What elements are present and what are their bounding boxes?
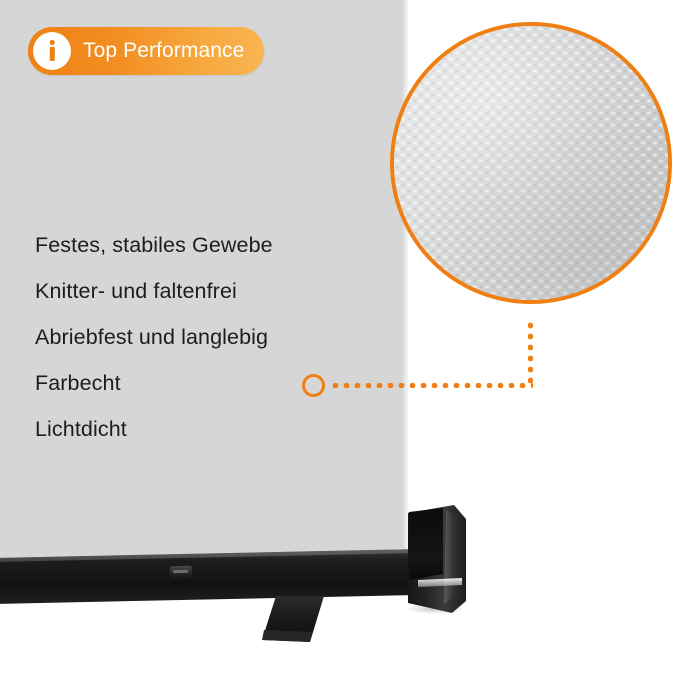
cassette-side-highlight — [444, 508, 458, 604]
feature-item: Knitter- und faltenfrei — [35, 268, 375, 314]
feature-list: Festes, stabiles Gewebe Knitter- und fal… — [35, 222, 375, 452]
info-icon-stem — [50, 47, 55, 61]
callout-line-horizontal — [330, 383, 533, 388]
base-clip — [170, 566, 192, 584]
infographic-canvas: Top Performance Festes, stabiles Gewebe … — [0, 0, 700, 700]
feature-item: Festes, stabiles Gewebe — [35, 222, 375, 268]
info-icon — [33, 32, 71, 70]
top-performance-badge: Top Performance — [28, 27, 264, 75]
fabric-sheen-overlay — [394, 26, 668, 300]
feature-item: Lichtdicht — [35, 406, 375, 452]
base-clip-slot — [173, 570, 188, 573]
info-icon-dot — [50, 40, 55, 45]
cassette-inner-cavity — [409, 508, 443, 580]
feature-item: Abriebfest und langlebig — [35, 314, 375, 360]
callout-line-vertical — [528, 320, 533, 388]
fabric-closeup-circle — [390, 22, 672, 304]
badge-label: Top Performance — [83, 39, 244, 63]
callout-origin-ring — [302, 374, 325, 397]
base-support-foot-edge — [262, 630, 324, 644]
